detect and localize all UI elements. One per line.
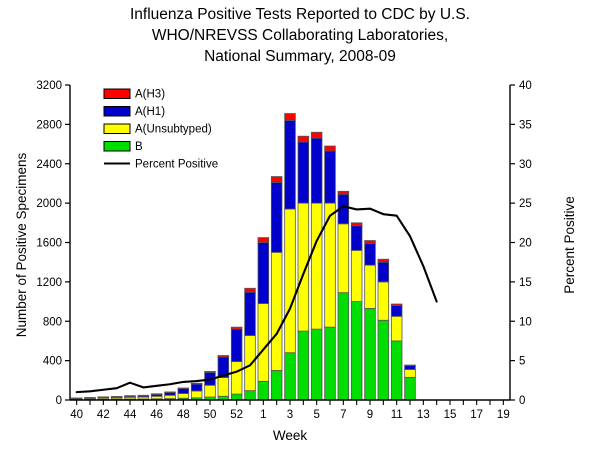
x-tick-label: 11 bbox=[391, 409, 403, 421]
bar-segment bbox=[271, 182, 282, 252]
bar-segment bbox=[365, 308, 376, 400]
y-tick-label: 2800 bbox=[36, 119, 62, 131]
bar-segment bbox=[311, 138, 322, 203]
bar-segment bbox=[338, 191, 349, 194]
legend-swatch bbox=[104, 89, 130, 99]
chart-canvas: 0400800120016002000240028003200051015202… bbox=[0, 0, 600, 450]
x-tick-label: 1 bbox=[260, 409, 266, 421]
bar-segment bbox=[245, 391, 256, 400]
bar-segment bbox=[325, 327, 336, 400]
bar-segment bbox=[258, 304, 269, 382]
bar-segment bbox=[85, 398, 96, 399]
x-axis-label: Week bbox=[273, 428, 308, 443]
x-tick-label: 15 bbox=[444, 409, 457, 421]
bar-segment bbox=[258, 238, 269, 243]
x-tick-label: 48 bbox=[177, 409, 190, 421]
bar-segment bbox=[405, 365, 416, 366]
x-tick-label: 19 bbox=[497, 409, 510, 421]
y-tick-label: 400 bbox=[43, 356, 62, 368]
bar-segment bbox=[178, 394, 189, 399]
legend-label: Percent Positive bbox=[135, 159, 218, 171]
bar-segment bbox=[351, 223, 362, 226]
bar-segment bbox=[325, 151, 336, 203]
y2-tick-label: 35 bbox=[519, 119, 532, 131]
y-tick-label: 2000 bbox=[36, 198, 62, 210]
y-tick-label: 1200 bbox=[36, 277, 62, 289]
legend-label: A(H3) bbox=[135, 89, 165, 101]
legend-swatch bbox=[104, 142, 130, 152]
legend-label: A(H1) bbox=[135, 106, 165, 118]
bar-segment bbox=[245, 336, 256, 391]
bar-segment bbox=[391, 306, 402, 317]
y2-tick-label: 10 bbox=[519, 316, 532, 328]
bar-segment bbox=[111, 396, 122, 397]
y-tick-label: 3200 bbox=[36, 80, 62, 92]
bar-segment bbox=[271, 370, 282, 400]
x-tick-label: 44 bbox=[124, 409, 137, 421]
bar-segment bbox=[245, 288, 256, 292]
bar-segment bbox=[231, 394, 242, 400]
x-tick-label: 42 bbox=[97, 409, 110, 421]
bar-segment bbox=[391, 304, 402, 305]
bar-segment bbox=[271, 252, 282, 370]
bar-segment bbox=[405, 366, 416, 370]
bar-segment bbox=[298, 136, 309, 142]
bar-segment bbox=[138, 395, 149, 396]
bar-segment bbox=[125, 396, 136, 397]
bar-segment bbox=[378, 282, 389, 320]
y2-tick-label: 40 bbox=[519, 80, 532, 92]
bar-segment bbox=[218, 378, 229, 397]
bar-segment bbox=[298, 331, 309, 400]
y-tick-label: 1600 bbox=[36, 238, 62, 250]
bar-segment bbox=[271, 177, 282, 183]
legend-swatch bbox=[104, 124, 130, 134]
bar-segment bbox=[231, 329, 242, 361]
bar-segment bbox=[285, 120, 296, 209]
bar-segment bbox=[258, 381, 269, 400]
y2-tick-label: 0 bbox=[519, 395, 525, 407]
legend-label: B bbox=[135, 141, 143, 153]
x-tick-label: 40 bbox=[70, 409, 83, 421]
x-tick-label: 9 bbox=[367, 409, 373, 421]
y2-tick-label: 5 bbox=[519, 356, 525, 368]
bar-segment bbox=[205, 371, 216, 372]
bar-segment bbox=[205, 385, 216, 397]
bar-segment bbox=[405, 377, 416, 400]
y2-axis-label: Percent Positive bbox=[562, 196, 577, 294]
legend-label: A(Unsubtyped) bbox=[135, 124, 212, 136]
bar-segment bbox=[378, 320, 389, 400]
bar-segment bbox=[231, 362, 242, 394]
y2-tick-label: 20 bbox=[519, 238, 532, 250]
x-tick-label: 46 bbox=[150, 409, 163, 421]
bar-segment bbox=[325, 146, 336, 151]
chart-legend: A(H3)A(H1)A(Unsubtyped)BPercent Positive bbox=[104, 89, 218, 171]
x-tick-label: 5 bbox=[313, 409, 319, 421]
x-tick-label: 17 bbox=[470, 409, 483, 421]
bar-segment bbox=[191, 383, 202, 384]
bar-segment bbox=[365, 265, 376, 308]
bar-segment bbox=[391, 341, 402, 400]
y2-tick-label: 15 bbox=[519, 277, 532, 289]
bar-segment bbox=[178, 388, 189, 389]
x-tick-label: 13 bbox=[417, 409, 430, 421]
bar-segment bbox=[178, 389, 189, 394]
bar-segment bbox=[311, 329, 322, 400]
y2-tick-label: 25 bbox=[519, 198, 532, 210]
y-tick-label: 800 bbox=[43, 316, 62, 328]
bar-segment bbox=[151, 394, 162, 395]
x-tick-label: 50 bbox=[204, 409, 217, 421]
bar-segment bbox=[245, 292, 256, 335]
bar-segment bbox=[285, 114, 296, 121]
bar-segment bbox=[338, 224, 349, 293]
bar-segment bbox=[165, 392, 176, 393]
bar-segment bbox=[98, 397, 109, 398]
bar-segment bbox=[191, 391, 202, 398]
x-tick-label: 7 bbox=[340, 409, 346, 421]
bar-segment bbox=[311, 203, 322, 329]
bar-segment bbox=[365, 243, 376, 265]
bar-segment bbox=[71, 398, 82, 399]
y2-tick-label: 30 bbox=[519, 159, 532, 171]
influenza-chart: Influenza Positive Tests Reported to CDC… bbox=[0, 0, 600, 450]
bar-segment bbox=[285, 209, 296, 353]
bar-segment bbox=[365, 241, 376, 244]
y-tick-label: 2400 bbox=[36, 159, 62, 171]
bar-segment bbox=[311, 132, 322, 138]
y-axis-label: Number of Positive Specimens bbox=[14, 152, 29, 337]
bar-segment bbox=[165, 395, 176, 398]
bars-layer bbox=[71, 114, 415, 401]
bar-segment bbox=[351, 250, 362, 301]
x-tick-label: 3 bbox=[287, 409, 293, 421]
bar-segment bbox=[378, 259, 389, 262]
bar-segment bbox=[391, 316, 402, 341]
bar-segment bbox=[351, 302, 362, 400]
bar-segment bbox=[298, 142, 309, 203]
y-tick-label: 0 bbox=[56, 395, 62, 407]
bar-segment bbox=[338, 293, 349, 400]
bar-segment bbox=[218, 356, 229, 357]
bar-segment bbox=[191, 384, 202, 391]
bar-segment bbox=[258, 243, 269, 304]
bar-segment bbox=[405, 369, 416, 377]
bar-segment bbox=[351, 226, 362, 251]
bar-segment bbox=[231, 327, 242, 329]
legend-swatch bbox=[104, 107, 130, 117]
bar-segment bbox=[285, 353, 296, 400]
bar-segment bbox=[378, 262, 389, 282]
x-tick-label: 52 bbox=[230, 409, 243, 421]
